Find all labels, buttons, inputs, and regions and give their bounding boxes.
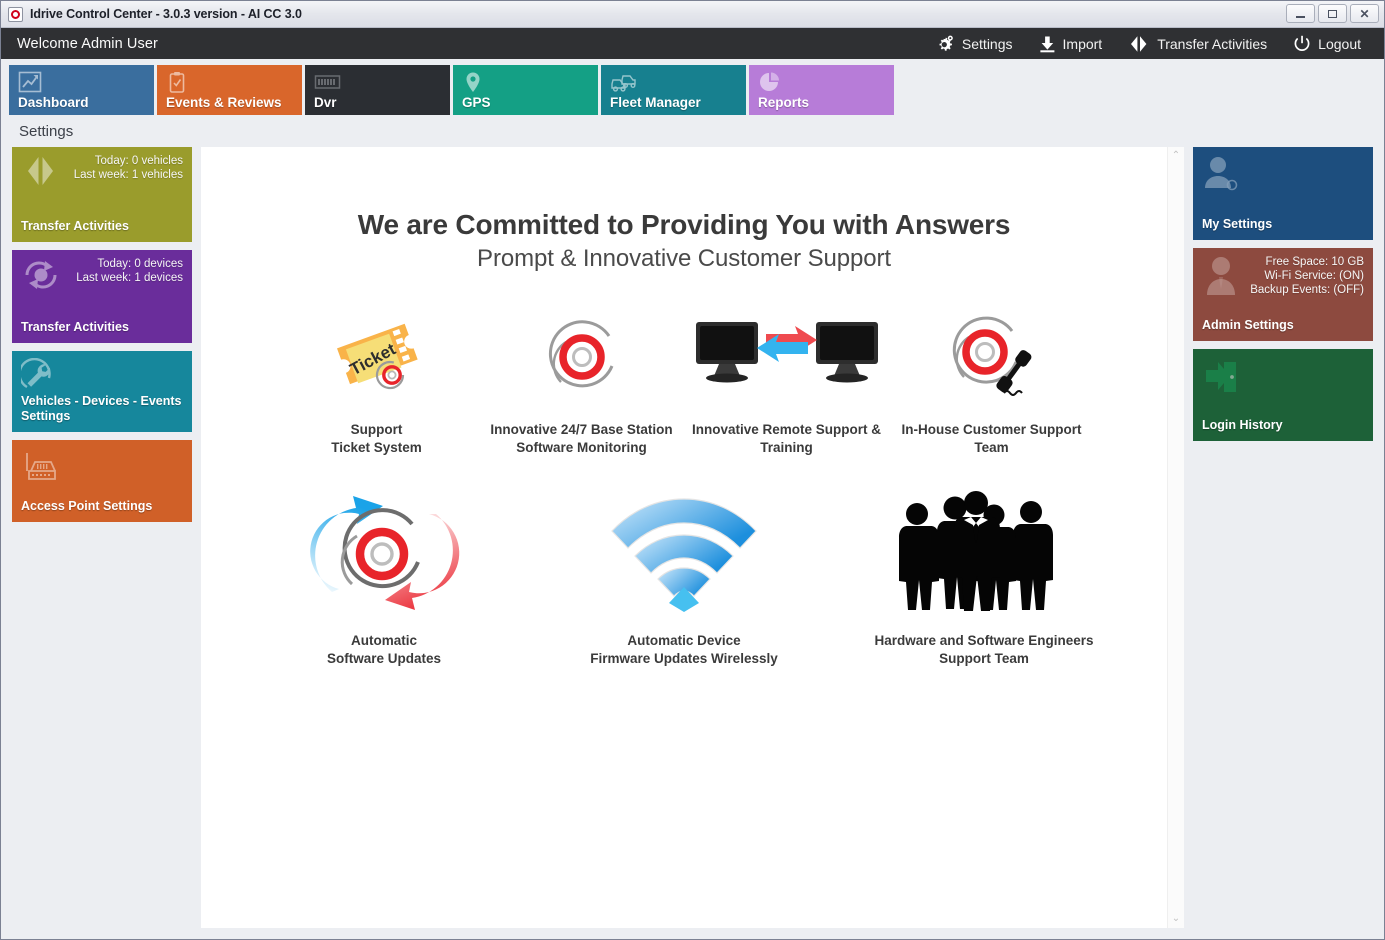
hero-section: We are Committed to Providing You with A…: [201, 147, 1167, 273]
target-monitor-icon: [537, 307, 627, 407]
feature-label: Automatic Device Firmware Updates Wirele…: [590, 632, 777, 668]
tile-title: Admin Settings: [1202, 318, 1364, 333]
tile-transfer-activities-devices[interactable]: Today: 0 devices Last week: 1 devices Tr…: [12, 250, 192, 343]
application-window: Idrive Control Center - 3.0.3 version - …: [0, 0, 1385, 940]
main-content-panel: We are Committed to Providing You with A…: [201, 147, 1184, 928]
tab-dvr[interactable]: Dvr: [305, 65, 450, 115]
welcome-message: Welcome Admin User: [17, 36, 158, 52]
close-button[interactable]: ✕: [1350, 4, 1379, 23]
device-sync-icon: [21, 257, 61, 298]
maximize-button[interactable]: [1318, 4, 1347, 23]
tile-vehicles-devices-events-settings[interactable]: Vehicles - Devices - Events Settings: [12, 351, 192, 432]
transfer-arrows-icon: [21, 154, 61, 193]
tab-dvr-label: Dvr: [314, 95, 337, 110]
record-ring-icon: [8, 7, 23, 22]
feature-label: Automatic Software Updates: [327, 632, 441, 668]
tile-stat-line: Wi-Fi Service: (ON): [1250, 269, 1364, 283]
feature-remote-support-training: Innovative Remote Support & Training: [684, 307, 889, 457]
tab-dashboard-label: Dashboard: [18, 95, 89, 110]
remote-screens-icon: [692, 307, 882, 407]
login-door-icon: [1202, 356, 1242, 401]
tile-stats: Today: 0 vehicles Last week: 1 vehicles: [74, 154, 183, 182]
feature-label: Support Ticket System: [331, 421, 422, 457]
window-controls: ✕: [1286, 4, 1379, 23]
admin-user-icon: [1202, 255, 1240, 302]
title-bar: Idrive Control Center - 3.0.3 version - …: [1, 1, 1384, 28]
tab-dashboard[interactable]: Dashboard: [9, 65, 154, 115]
target-phone-icon: [942, 307, 1042, 407]
tile-my-settings[interactable]: My Settings: [1193, 147, 1373, 240]
breadcrumb: Settings: [1, 115, 1384, 147]
header-logout-label: Logout: [1318, 36, 1361, 52]
tab-gps-label: GPS: [462, 95, 491, 110]
user-settings-icon: [1202, 154, 1242, 199]
tile-stat-line: Today: 0 vehicles: [74, 154, 183, 168]
main-navigation-tabs: Dashboard Events & Reviews: [1, 59, 1384, 115]
tile-title: Transfer Activities: [21, 320, 183, 335]
feature-label: In-House Customer Support Team: [901, 421, 1081, 457]
content-scroll-area: We are Committed to Providing You with A…: [201, 147, 1167, 928]
tile-title: Transfer Activities: [21, 219, 183, 234]
left-sidebar: Today: 0 vehicles Last week: 1 vehicles …: [12, 147, 192, 928]
support-ticket-icon: Ticket: [325, 307, 429, 407]
feature-support-ticket-system: Ticket Support Ticket System: [274, 307, 479, 457]
breadcrumb-label: Settings: [19, 123, 73, 140]
tab-fleet-manager[interactable]: Fleet Manager: [601, 65, 746, 115]
tab-gps[interactable]: GPS: [453, 65, 598, 115]
minimize-button[interactable]: [1286, 4, 1315, 23]
header-settings-button[interactable]: Settings: [922, 28, 1026, 59]
feature-device-firmware-updates: Automatic Device Firmware Updates Wirele…: [534, 485, 834, 668]
tile-login-history[interactable]: Login History: [1193, 349, 1373, 441]
tile-stats: Today: 0 devices Last week: 1 devices: [76, 257, 183, 285]
transfer-arrows-icon: [1128, 35, 1150, 53]
right-sidebar: My Settings Free Space: 1: [1193, 147, 1373, 928]
power-icon: [1293, 35, 1311, 53]
feature-label: Innovative 24/7 Base Station Software Mo…: [490, 421, 672, 457]
tile-admin-settings[interactable]: Free Space: 10 GB Wi-Fi Service: (ON) Ba…: [1193, 248, 1373, 341]
feature-label: Hardware and Software Engineers Support …: [874, 632, 1093, 668]
top-header-bar: Welcome Admin User Settings: [1, 28, 1384, 59]
router-icon: [21, 447, 63, 488]
header-actions: Settings Import: [922, 28, 1374, 59]
download-icon: [1039, 35, 1056, 53]
tab-fleet-manager-label: Fleet Manager: [610, 95, 701, 110]
tab-reports-label: Reports: [758, 95, 809, 110]
feature-row-2: Automatic Software Updates: [201, 485, 1167, 668]
header-import-label: Import: [1063, 36, 1103, 52]
feature-engineers-support-team: Hardware and Software Engineers Support …: [834, 485, 1134, 668]
tab-events-reviews-label: Events & Reviews: [166, 95, 282, 110]
tile-title: Login History: [1202, 418, 1364, 433]
scroll-down-arrow[interactable]: ⌄: [1172, 914, 1180, 924]
tab-events-reviews[interactable]: Events & Reviews: [157, 65, 302, 115]
tile-stat-line: Last week: 1 vehicles: [74, 168, 183, 182]
feature-label: Innovative Remote Support & Training: [692, 421, 881, 457]
feature-base-station-monitoring: Innovative 24/7 Base Station Software Mo…: [479, 307, 684, 457]
header-import-button[interactable]: Import: [1026, 28, 1116, 59]
header-transfer-activities-button[interactable]: Transfer Activities: [1115, 28, 1280, 59]
wrench-icon: [21, 358, 59, 397]
tile-transfer-activities-vehicles[interactable]: Today: 0 vehicles Last week: 1 vehicles …: [12, 147, 192, 242]
content-scrollbar[interactable]: ⌃ ⌄: [1167, 147, 1184, 928]
tile-title: My Settings: [1202, 217, 1364, 232]
scroll-up-arrow[interactable]: ⌃: [1172, 151, 1180, 161]
header-transfer-label: Transfer Activities: [1157, 36, 1267, 52]
tile-stat-line: Backup Events: (OFF): [1250, 283, 1364, 297]
feature-row-1: Ticket Support Ticket System: [201, 307, 1167, 457]
tile-stat-line: Free Space: 10 GB: [1250, 255, 1364, 269]
header-settings-label: Settings: [962, 36, 1013, 52]
feature-in-house-support-team: In-House Customer Support Team: [889, 307, 1094, 457]
window-title: Idrive Control Center - 3.0.3 version - …: [30, 7, 302, 21]
page-subtitle: Prompt & Innovative Customer Support: [201, 245, 1167, 273]
body-area: Today: 0 vehicles Last week: 1 vehicles …: [1, 147, 1384, 939]
team-silhouette-icon: [889, 485, 1079, 620]
tile-title: Vehicles - Devices - Events Settings: [21, 394, 183, 424]
tile-stats: Free Space: 10 GB Wi-Fi Service: (ON) Ba…: [1250, 255, 1364, 297]
tile-access-point-settings[interactable]: Access Point Settings: [12, 440, 192, 522]
tile-stat-line: Today: 0 devices: [76, 257, 183, 271]
gear-icon: [935, 35, 955, 53]
tile-title: Access Point Settings: [21, 499, 183, 514]
feature-automatic-software-updates: Automatic Software Updates: [234, 485, 534, 668]
tile-stat-line: Last week: 1 devices: [76, 271, 183, 285]
page-title: We are Committed to Providing You with A…: [201, 209, 1167, 241]
tab-reports[interactable]: Reports: [749, 65, 894, 115]
auto-update-icon: [294, 485, 474, 620]
header-logout-button[interactable]: Logout: [1280, 28, 1374, 59]
wifi-signal-icon: [608, 485, 760, 620]
